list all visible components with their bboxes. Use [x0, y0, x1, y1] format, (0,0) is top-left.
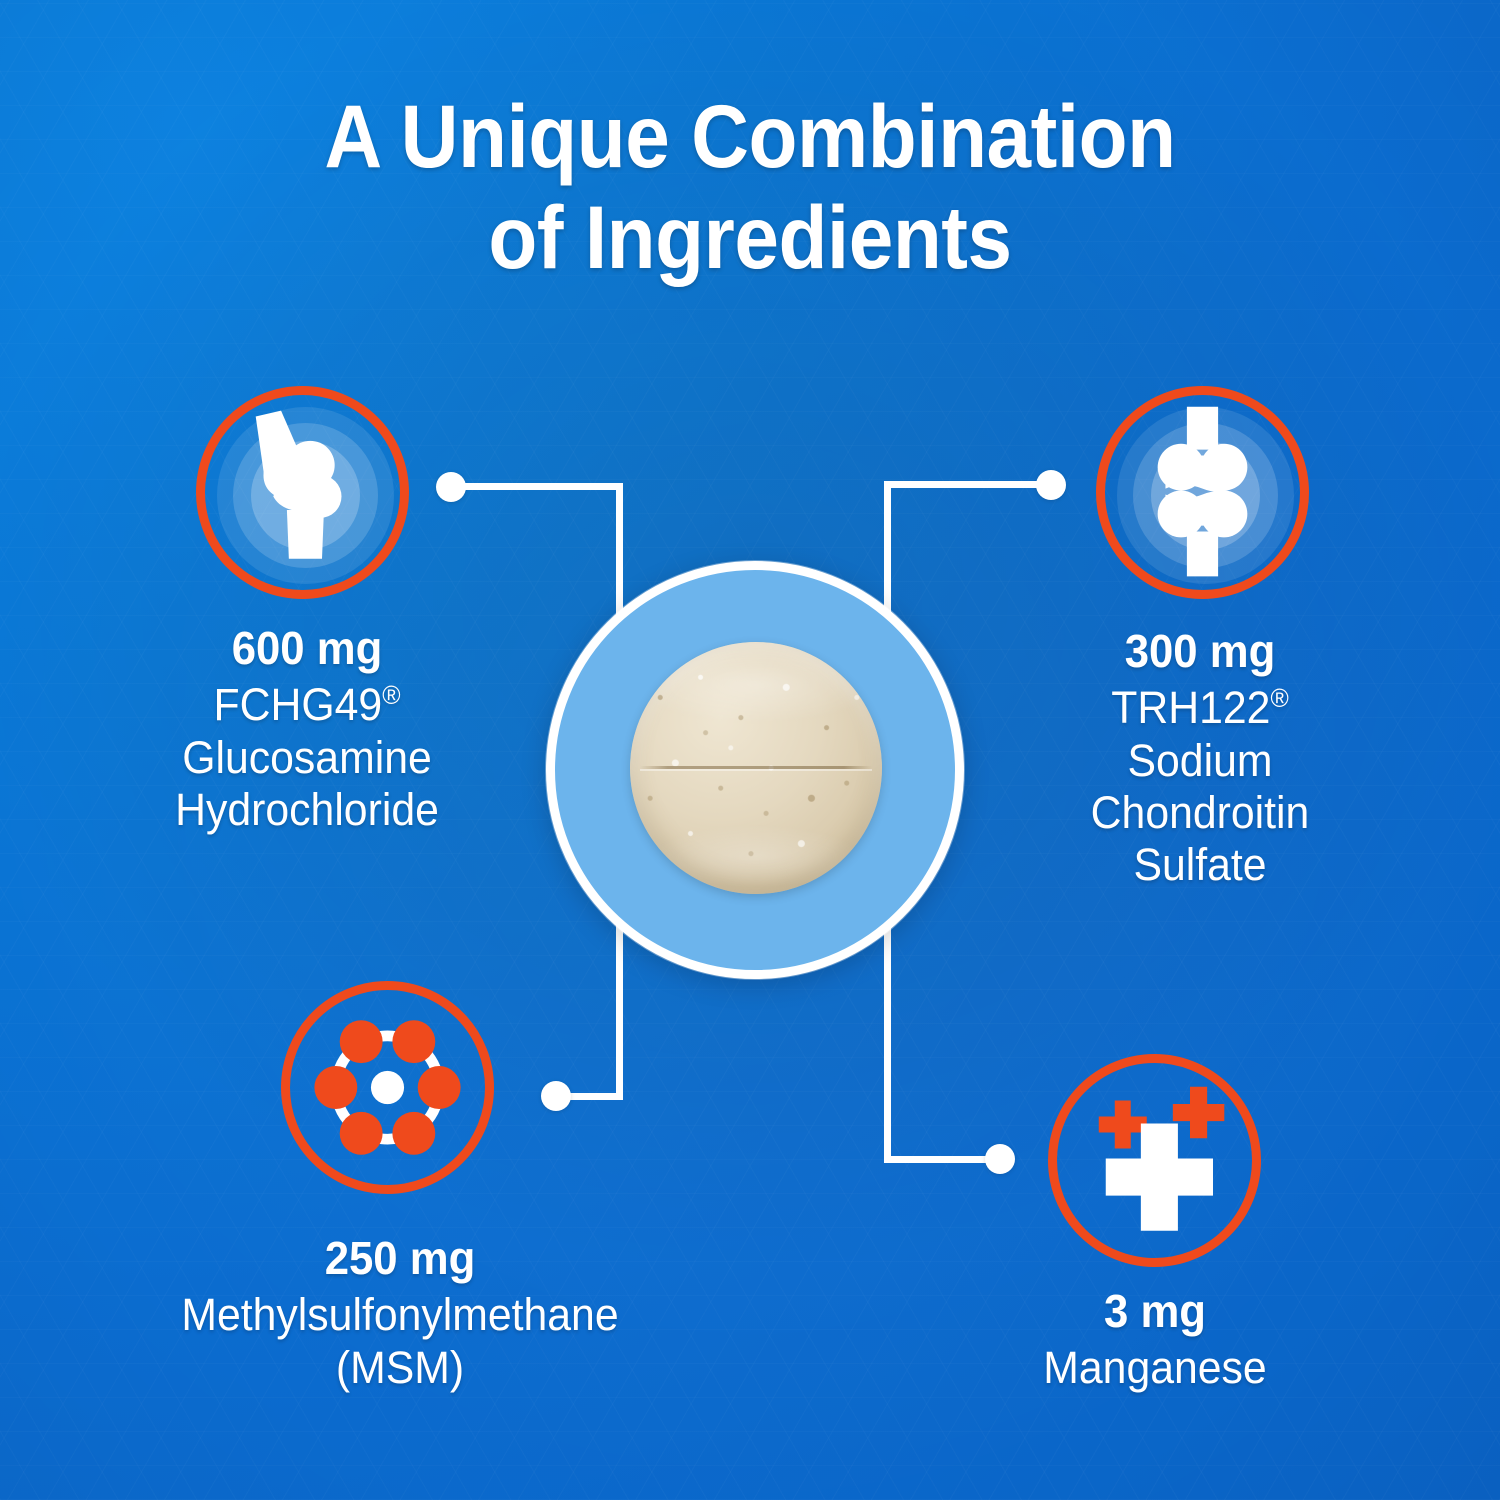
label-chondroitin-name3: Chondroitin	[986, 787, 1414, 839]
page-title-line1: A Unique Combination	[324, 86, 1175, 186]
medical-cross-icon	[1057, 1063, 1252, 1258]
label-msm-name2: (MSM)	[72, 1342, 728, 1394]
badge-chondroitin	[1096, 386, 1309, 599]
label-msm-name1: Methylsulfonylmethane	[72, 1289, 728, 1341]
connector-dot-msm	[541, 1081, 571, 1111]
label-glucosamine-amount: 600 mg	[84, 622, 531, 675]
label-manganese-name1: Manganese	[941, 1342, 1369, 1394]
badge-msm	[281, 981, 494, 1194]
label-chondroitin-name4: Sulfate	[986, 839, 1414, 891]
connector-line-manganese-horizontal	[884, 1156, 1000, 1163]
connector-line-chondroitin-horizontal	[884, 481, 1049, 488]
connector-dot-manganese	[985, 1144, 1015, 1174]
label-chondroitin: 300 mg TRH122® Sodium Chondroitin Sulfat…	[975, 625, 1425, 891]
badge-glucosamine	[196, 386, 409, 599]
label-chondroitin-name1: TRH122®	[986, 682, 1414, 734]
label-chondroitin-name2: Sodium	[986, 735, 1414, 787]
center-tablet-group	[546, 561, 964, 979]
badge-manganese	[1048, 1054, 1261, 1267]
page-title-line2: of Ingredients	[75, 187, 1425, 288]
label-glucosamine: 600 mg FCHG49® Glucosamine Hydrochloride	[72, 622, 542, 836]
label-msm-amount: 250 mg	[72, 1232, 728, 1285]
tablet-pill-icon	[630, 642, 882, 894]
ingredients-infographic: A Unique Combination of Ingredients	[0, 0, 1500, 1500]
molecule-icon	[290, 990, 485, 1185]
bone-joint-icon	[1105, 395, 1300, 590]
tablet-score-line	[640, 766, 872, 769]
label-glucosamine-name3: Hydrochloride	[84, 784, 531, 836]
connector-line-glucosamine-horizontal	[458, 483, 623, 490]
label-msm: 250 mg Methylsulfonylmethane (MSM)	[55, 1232, 745, 1394]
label-chondroitin-amount: 300 mg	[986, 625, 1414, 678]
label-manganese: 3 mg Manganese	[930, 1285, 1380, 1395]
label-glucosamine-name1: FCHG49®	[84, 679, 531, 731]
page-title: A Unique Combination of Ingredients	[75, 86, 1425, 289]
label-manganese-amount: 3 mg	[941, 1285, 1369, 1338]
knee-joint-icon	[205, 395, 400, 590]
label-glucosamine-name2: Glucosamine	[84, 732, 531, 784]
